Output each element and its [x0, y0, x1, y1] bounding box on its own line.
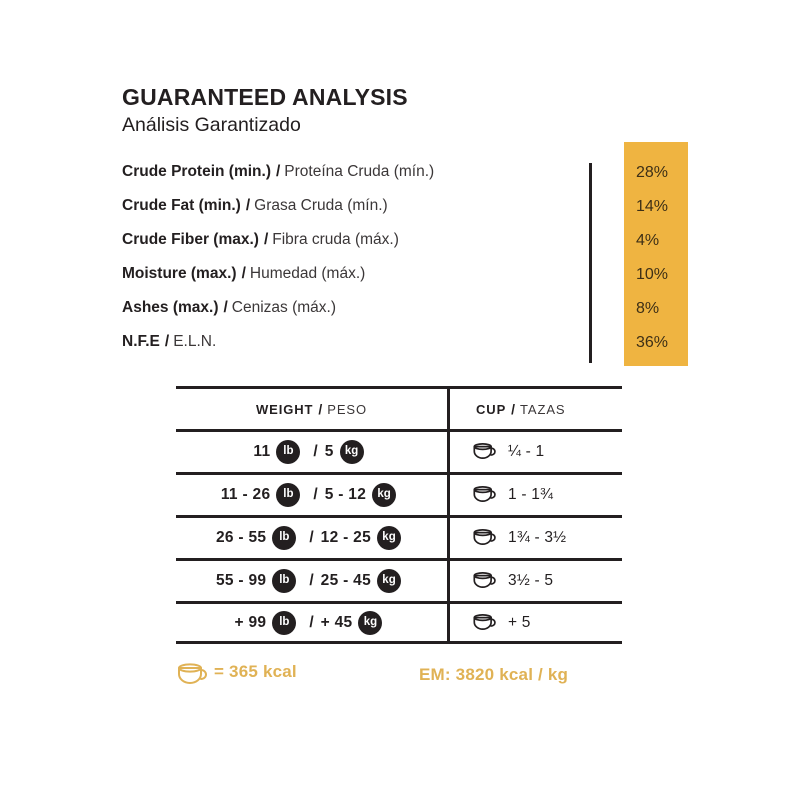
percent-value: 4% — [624, 224, 688, 258]
table-row: 11 lb / 5 kg ¼ - 1 — [176, 429, 622, 472]
footer-energy-info: = 365 kcal EM: 3820 kcal / kg — [176, 662, 646, 702]
table-row: 26 - 55 lb / 12 - 25 kg 1¾ - 3½ — [176, 515, 622, 558]
kg-badge: kg — [358, 611, 382, 635]
header-cup-es: TAZAS — [520, 402, 565, 417]
analysis-label-es: Cenizas (máx.) — [232, 299, 336, 317]
percent-value: 36% — [624, 326, 688, 360]
cup-amount: 1 - 1¾ — [508, 486, 553, 504]
cell-weight: 55 - 99 lb / 25 - 45 kg — [176, 561, 450, 601]
analysis-label-es: Proteína Cruda (mín.) — [284, 163, 434, 181]
weight-separator: / — [309, 614, 313, 632]
cell-cup: 1 - 1¾ — [450, 475, 622, 515]
weight-lb-value: 11 — [253, 443, 270, 461]
kcal-per-cup-value: = 365 kcal — [214, 662, 297, 682]
cup-amount: + 5 — [508, 614, 531, 632]
analysis-label-en: N.F.E — [122, 333, 160, 351]
cell-cup: + 5 — [450, 604, 622, 641]
weight-lb-value: 11 - 26 — [221, 486, 271, 504]
cell-weight: + 99 lb / + 45 kg — [176, 604, 450, 641]
page-title: GUARANTEED ANALYSIS Análisis Garantizado — [122, 84, 408, 138]
header-separator: / — [511, 401, 515, 417]
header-separator: / — [318, 401, 322, 417]
analysis-label-en: Moisture (max.) — [122, 265, 237, 283]
cell-cup: ¼ - 1 — [450, 432, 622, 472]
weight-kg-value: 25 - 45 — [321, 572, 371, 590]
weight-separator: / — [313, 443, 317, 461]
weight-separator: / — [313, 486, 317, 504]
cup-icon — [472, 485, 498, 505]
analysis-row: Moisture (max.) / Humedad (máx.) — [122, 257, 592, 291]
table-row: 55 - 99 lb / 25 - 45 kg 3½ - 5 — [176, 558, 622, 601]
analysis-label-en: Crude Fat (min.) — [122, 197, 241, 215]
percent-value-band: 28% 14% 4% 10% 8% 36% — [624, 142, 688, 366]
cup-icon — [472, 528, 498, 548]
weight-lb-value: 55 - 99 — [216, 572, 266, 590]
analysis-row: Crude Protein (min.) / Proteína Cruda (m… — [122, 155, 592, 189]
analysis-label-es: Fibra cruda (máx.) — [272, 231, 399, 249]
kg-badge: kg — [340, 440, 364, 464]
cup-icon — [472, 442, 498, 462]
analysis-label-en: Crude Fiber (max.) — [122, 231, 259, 249]
cup-icon — [472, 571, 498, 591]
cup-amount: 3½ - 5 — [508, 572, 553, 590]
kcal-per-cup-group: = 365 kcal — [176, 662, 297, 682]
metabolizable-energy-value: EM: 3820 kcal / kg — [419, 665, 568, 685]
vertical-divider — [589, 163, 592, 363]
cup-icon — [472, 613, 498, 633]
cell-cup: 1¾ - 3½ — [450, 518, 622, 558]
header-cell-weight: WEIGHT / PESO — [176, 389, 450, 429]
percent-value: 8% — [624, 292, 688, 326]
analysis-separator: / — [242, 265, 246, 283]
kg-badge: kg — [377, 569, 401, 593]
title-english: GUARANTEED ANALYSIS — [122, 84, 408, 110]
cell-weight: 26 - 55 lb / 12 - 25 kg — [176, 518, 450, 558]
analysis-separator: / — [246, 197, 250, 215]
analysis-separator: / — [276, 163, 280, 181]
analysis-row: N.F.E / E.L.N. — [122, 325, 592, 359]
analysis-separator: / — [165, 333, 169, 351]
analysis-row: Crude Fiber (max.) / Fibra cruda (máx.) — [122, 223, 592, 257]
kg-badge: kg — [377, 526, 401, 550]
header-cell-cup: CUP / TAZAS — [450, 389, 622, 429]
lb-badge: lb — [272, 569, 296, 593]
analysis-row: Ashes (max.) / Cenizas (máx.) — [122, 291, 592, 325]
guaranteed-analysis-list: Crude Protein (min.) / Proteína Cruda (m… — [122, 155, 592, 359]
weight-kg-value: 12 - 25 — [321, 529, 371, 547]
weight-lb-value: 26 - 55 — [216, 529, 266, 547]
header-weight-en: WEIGHT — [256, 402, 313, 417]
cell-weight: 11 lb / 5 kg — [176, 432, 450, 472]
percent-value: 14% — [624, 190, 688, 224]
percent-value: 28% — [624, 156, 688, 190]
analysis-row: Crude Fat (min.) / Grasa Cruda (mín.) — [122, 189, 592, 223]
analysis-label-en: Ashes (max.) — [122, 299, 218, 317]
weight-kg-value: 5 — [325, 443, 334, 461]
percent-value: 10% — [624, 258, 688, 292]
title-spanish: Análisis Garantizado — [122, 114, 408, 137]
analysis-label-es: E.L.N. — [173, 333, 216, 351]
lb-badge: lb — [272, 526, 296, 550]
analysis-label-es: Grasa Cruda (mín.) — [254, 197, 388, 215]
header-cup-en: CUP — [476, 402, 506, 417]
weight-kg-value: 5 - 12 — [325, 486, 366, 504]
lb-badge: lb — [276, 483, 300, 507]
cup-amount: ¼ - 1 — [508, 443, 544, 461]
cell-cup: 3½ - 5 — [450, 561, 622, 601]
table-row: 11 - 26 lb / 5 - 12 kg 1 - 1¾ — [176, 472, 622, 515]
table-row: + 99 lb / + 45 kg + 5 — [176, 601, 622, 644]
table-header-row: WEIGHT / PESO CUP / TAZAS — [176, 386, 622, 429]
lb-badge: lb — [276, 440, 300, 464]
analysis-separator: / — [264, 231, 268, 249]
lb-badge: lb — [272, 611, 296, 635]
weight-lb-value: + 99 — [235, 614, 267, 632]
analysis-separator: / — [223, 299, 227, 317]
feeding-guide-table: WEIGHT / PESO CUP / TAZAS 11 lb / 5 kg — [176, 386, 622, 644]
cell-weight: 11 - 26 lb / 5 - 12 kg — [176, 475, 450, 515]
kg-badge: kg — [372, 483, 396, 507]
header-weight-es: PESO — [327, 402, 367, 417]
analysis-label-es: Humedad (máx.) — [250, 265, 365, 283]
weight-separator: / — [309, 529, 313, 547]
analysis-label-en: Crude Protein (min.) — [122, 163, 271, 181]
cup-amount: 1¾ - 3½ — [508, 529, 566, 547]
weight-kg-value: + 45 — [321, 614, 353, 632]
weight-separator: / — [309, 572, 313, 590]
cup-icon — [176, 662, 202, 682]
